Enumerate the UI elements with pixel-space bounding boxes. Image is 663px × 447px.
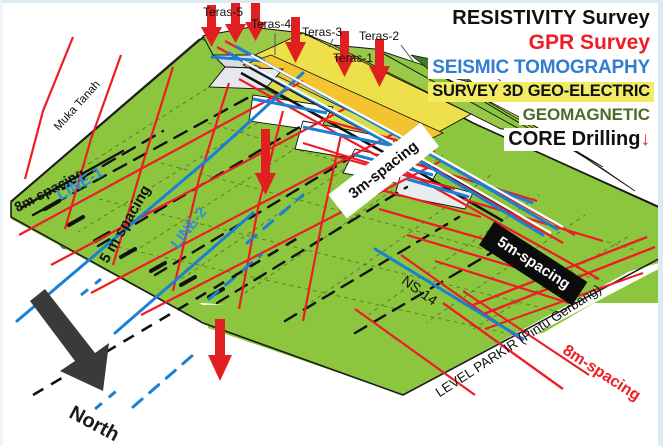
label-teras-2: Teras-2 (359, 29, 399, 43)
down-arrow-icon: ↓ (641, 129, 651, 150)
label-teras-5: Teras-5 (203, 5, 243, 19)
legend-label-seismic: SEISMIC TOMOGRAPHY (428, 57, 654, 79)
legend-label-gpr: GPR Survey (525, 31, 654, 55)
label-teras-3: Teras-3 (302, 25, 342, 39)
legend-label-resistivity: RESISTIVITY Survey (448, 7, 654, 30)
legend-item-resistivity[interactable]: RESISTIVITY Survey (378, 7, 654, 30)
label-teras-1: Teras-1 (333, 51, 373, 65)
legend-item-gpr[interactable]: GPR Survey (378, 31, 654, 55)
legend-item-geoelectric[interactable]: SURVEY 3D GEO-ELECTRIC (378, 82, 654, 102)
legend-label-geomagnetic: GEOMAGNETIC (519, 105, 654, 125)
legend-text-coredrilling: CORE Drilling (508, 128, 640, 150)
figure-canvas: RESISTIVITY Survey GPR Survey SEISMIC TO… (0, 0, 663, 447)
legend-item-geomagnetic[interactable]: GEOMAGNETIC (378, 105, 654, 125)
legend-label-coredrilling: CORE Drilling↓ (504, 128, 654, 151)
label-teras-4: Teras-4 (251, 17, 291, 31)
legend-label-geoelectric: SURVEY 3D GEO-ELECTRIC (428, 82, 654, 102)
legend-item-seismic[interactable]: SEISMIC TOMOGRAPHY (378, 57, 654, 79)
